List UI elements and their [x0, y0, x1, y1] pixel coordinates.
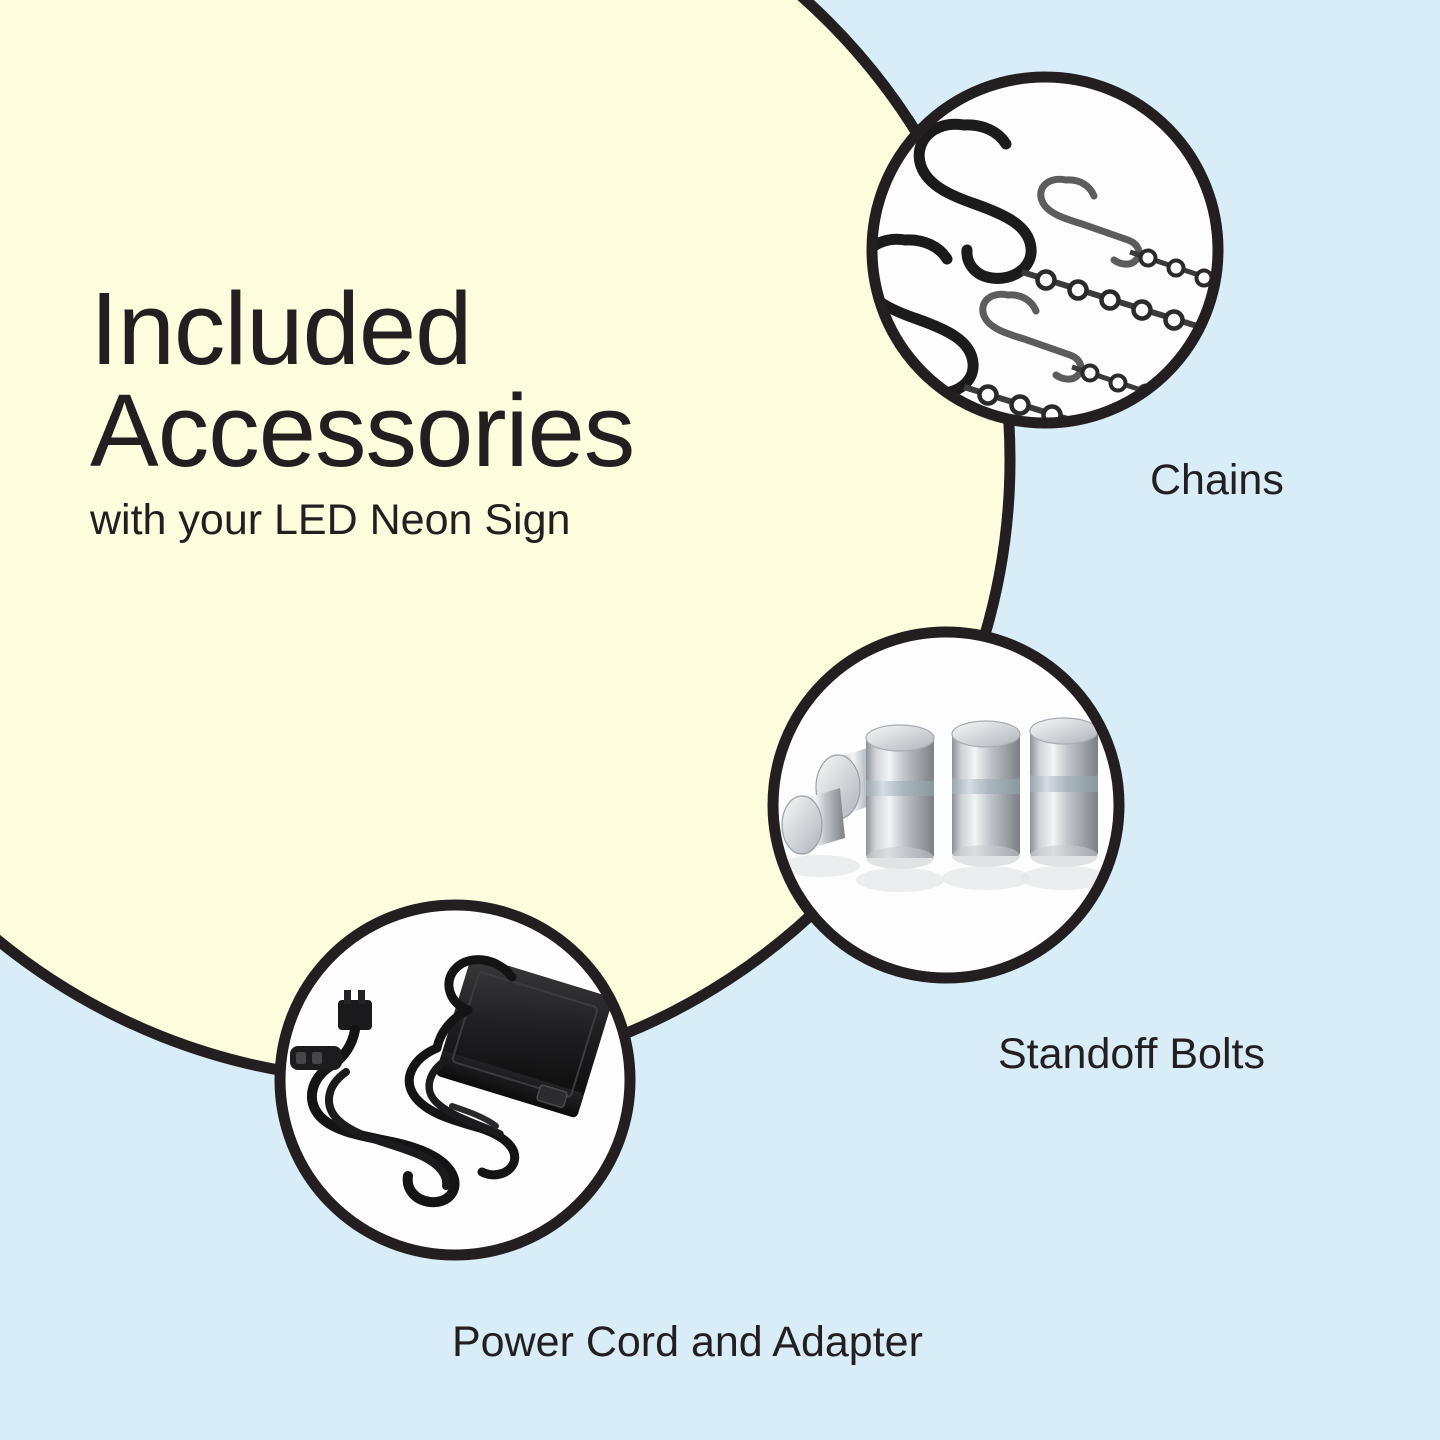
- callout-power-adapter: [278, 903, 632, 1257]
- caption-power-cord-and-adapter: Power Cord and Adapter: [452, 1318, 923, 1367]
- page-title: Included Accessories with your LED Neon …: [90, 278, 890, 545]
- caption-standoff-bolts: Standoff Bolts: [998, 1030, 1265, 1079]
- headline-subtitle: with your LED Neon Sign: [90, 496, 890, 545]
- graphics-layer: [0, 0, 1440, 1440]
- callout-standoff-bolts: [770, 630, 1122, 982]
- headline-line-1: Included: [90, 278, 890, 380]
- headline-line-2: Accessories: [90, 380, 890, 482]
- caption-chains: Chains: [1150, 456, 1284, 505]
- infographic-canvas: Included Accessories with your LED Neon …: [0, 0, 1440, 1440]
